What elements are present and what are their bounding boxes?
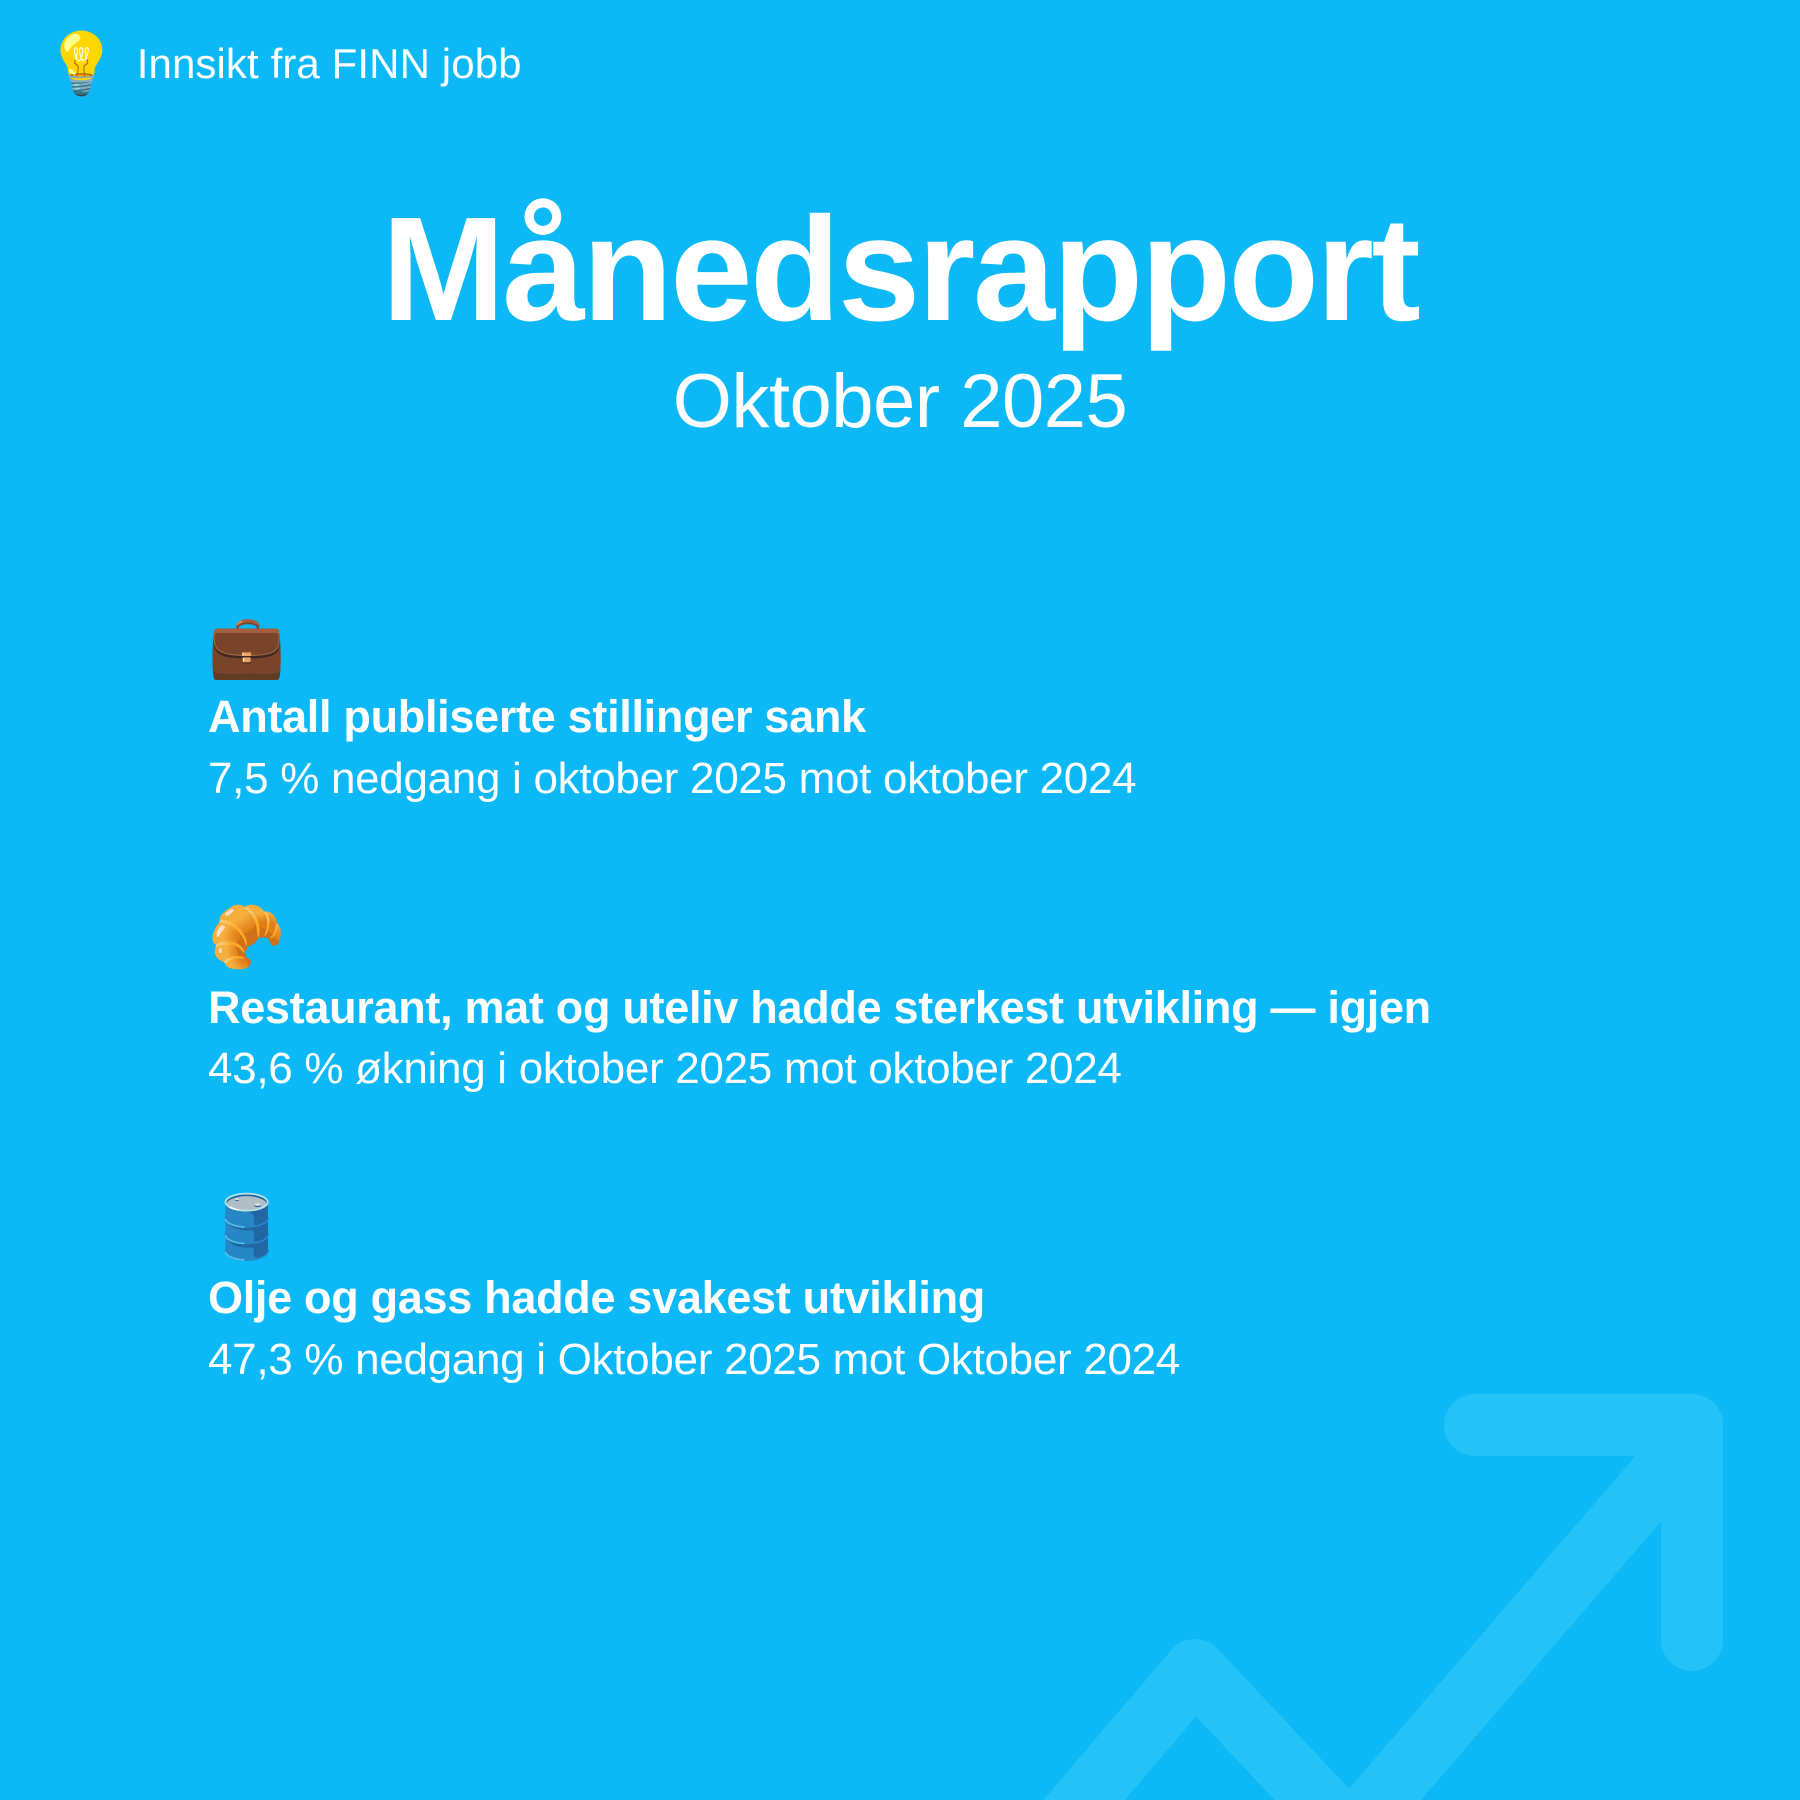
- briefcase-icon: 💼: [208, 615, 1720, 677]
- report-card: 💡 Innsikt fra FINN jobb Månedsrapport Ok…: [0, 0, 1800, 1800]
- page-title: Månedsrapport: [0, 196, 1800, 344]
- insight-heading: Olje og gass hadde svakest utvikling: [208, 1272, 1720, 1324]
- title-block: Månedsrapport Oktober 2025: [0, 196, 1800, 440]
- oil-drum-icon: 🛢️: [208, 1196, 1720, 1258]
- insight-subtext: 7,5 % nedgang i oktober 2025 mot oktober…: [208, 753, 1720, 806]
- lightbulb-icon: 💡: [44, 34, 119, 94]
- insight-subtext: 43,6 % økning i oktober 2025 mot oktober…: [208, 1043, 1720, 1096]
- list-item: 💼 Antall publiserte stillinger sank 7,5 …: [208, 615, 1720, 806]
- header-label: Innsikt fra FINN jobb: [137, 40, 522, 88]
- insight-heading: Antall publiserte stillinger sank: [208, 691, 1720, 743]
- list-item: 🛢️ Olje og gass hadde svakest utvikling …: [208, 1196, 1720, 1387]
- header: 💡 Innsikt fra FINN jobb: [44, 34, 522, 94]
- page-subtitle: Oktober 2025: [0, 364, 1800, 440]
- list-item: 🥐 Restaurant, mat og uteliv hadde sterke…: [208, 906, 1720, 1097]
- croissant-icon: 🥐: [208, 906, 1720, 968]
- insight-subtext: 47,3 % nedgang i Oktober 2025 mot Oktobe…: [208, 1334, 1720, 1387]
- insight-heading: Restaurant, mat og uteliv hadde sterkest…: [208, 982, 1720, 1034]
- insight-list: 💼 Antall publiserte stillinger sank 7,5 …: [208, 615, 1720, 1387]
